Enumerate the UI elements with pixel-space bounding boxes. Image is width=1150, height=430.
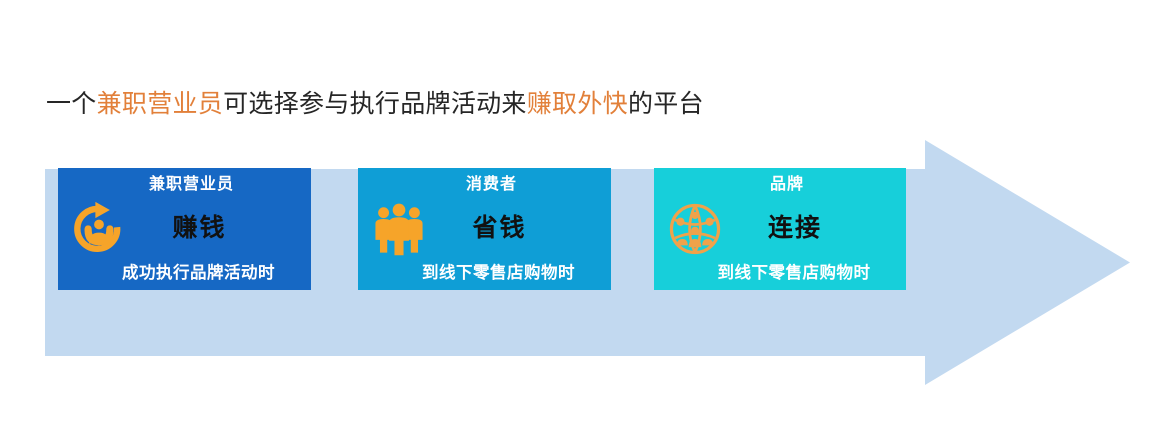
title-segment-3: 可选择参与执行品牌活动来 xyxy=(223,91,527,118)
card-main-label: 赚钱 xyxy=(58,212,311,246)
card-footer-label: 成功执行品牌活动时 xyxy=(58,261,311,285)
title-segment-5: 的平台 xyxy=(628,91,704,118)
card-header-label: 兼职营业员 xyxy=(58,174,311,196)
card-part-time-clerk[interactable]: 兼职营业员 赚钱 成功执行品牌活动时 xyxy=(58,168,311,290)
title-segment-4-highlight: 赚取外快 xyxy=(527,91,628,118)
title-segment-1: 一个 xyxy=(46,91,97,118)
card-consumer[interactable]: 消费者 省钱 到线下零售店购物时 xyxy=(358,168,611,290)
card-header-label: 品牌 xyxy=(654,174,906,196)
diagram-canvas: 一个兼职营业员可选择参与执行品牌活动来赚取外快的平台 兼职营业员 赚钱 成功执行… xyxy=(0,0,1150,430)
title-segment-2-highlight: 兼职营业员 xyxy=(97,91,224,118)
card-header-label: 消费者 xyxy=(358,174,611,196)
card-brand[interactable]: 品牌 连接 到线下零售店购物时 xyxy=(654,168,906,290)
card-main-label: 省钱 xyxy=(358,212,611,246)
card-footer-label: 到线下零售店购物时 xyxy=(654,261,906,285)
card-footer-label: 到线下零售店购物时 xyxy=(358,261,611,285)
card-main-label: 连接 xyxy=(654,212,906,246)
page-title: 一个兼职营业员可选择参与执行品牌活动来赚取外快的平台 xyxy=(46,88,906,124)
